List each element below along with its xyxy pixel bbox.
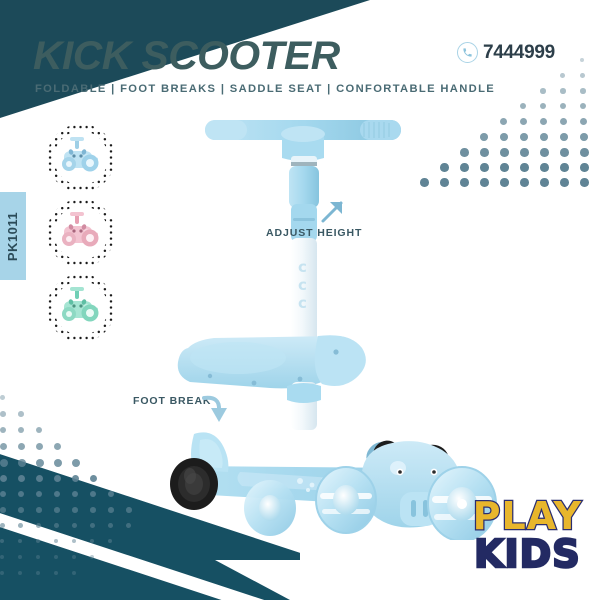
brand-logo: PLAY KIDS xyxy=(473,498,582,572)
color-variant-blue[interactable] xyxy=(47,124,115,192)
product-code-tab: PK1011 xyxy=(0,192,26,280)
swatch-inner-blue xyxy=(54,131,108,185)
phone-icon xyxy=(457,42,478,63)
product-poster: PK1011 KICK SCOOTER FOLDABLE | FOOT BREA… xyxy=(0,0,600,600)
main-product-image: c c c xyxy=(150,100,510,540)
color-variant-pink[interactable] xyxy=(47,199,115,267)
front-wheel-far xyxy=(244,480,296,536)
swatch-inner-green xyxy=(54,281,108,335)
blue-scooter-thumbnail-icon xyxy=(54,131,108,185)
color-variant-list xyxy=(47,124,115,349)
rear-wheel xyxy=(170,458,218,510)
handlebar xyxy=(205,120,401,161)
svg-text:c: c xyxy=(298,258,307,276)
contact-phone[interactable]: 7444999 xyxy=(457,42,555,63)
svg-text:c: c xyxy=(298,276,307,294)
swatch-inner-pink xyxy=(54,206,108,260)
color-variant-green[interactable] xyxy=(47,274,115,342)
arrow-up-right-icon xyxy=(318,196,348,231)
page-title: KICK SCOOTER xyxy=(33,36,340,76)
dot-pattern-bottom-left xyxy=(0,395,170,595)
brand-name-play: PLAY xyxy=(473,498,582,534)
saddle-seat xyxy=(178,335,366,388)
stem-column: c c c xyxy=(289,156,319,358)
product-code-label: PK1011 xyxy=(7,211,20,260)
arrow-curve-down-icon xyxy=(200,392,228,431)
phone-number: 7444999 xyxy=(483,43,555,62)
green-scooter-thumbnail-icon xyxy=(54,281,108,335)
svg-text:c: c xyxy=(298,294,307,312)
front-wheel-left xyxy=(316,467,376,533)
pink-scooter-thumbnail-icon xyxy=(54,206,108,260)
feature-subtitle: FOLDABLE | FOOT BREAKS | SADDLE SEAT | C… xyxy=(35,84,495,95)
kick-scooter-illustration: c c c xyxy=(150,100,510,540)
brand-name-kids: KIDS xyxy=(473,536,582,572)
